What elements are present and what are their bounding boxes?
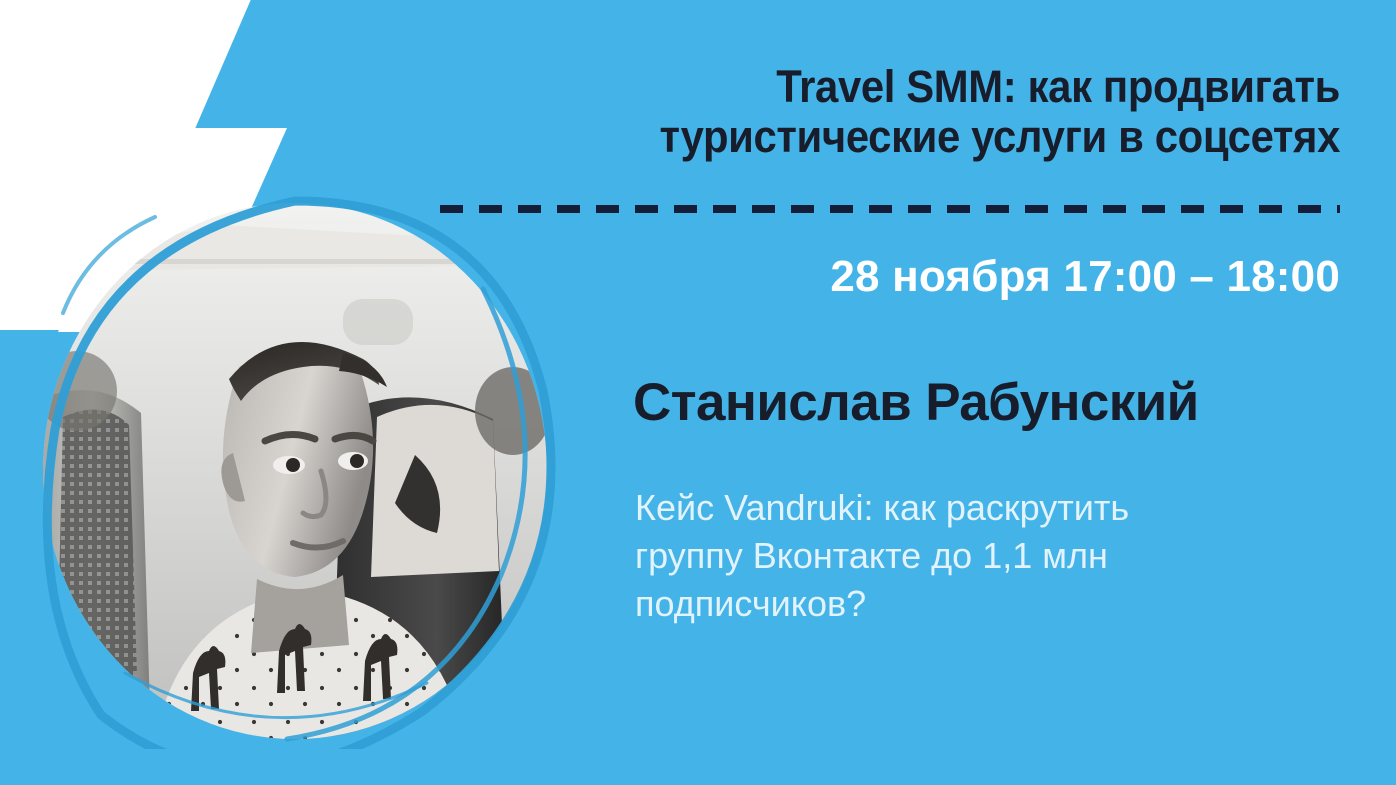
dashed-divider bbox=[440, 205, 1340, 213]
page-title: Travel SMM: как продвигать туристические… bbox=[494, 62, 1340, 163]
event-datetime: 28 ноября 17:00 – 18:00 bbox=[430, 252, 1340, 302]
webinar-announcement-banner: Travel SMM: как продвигать туристические… bbox=[0, 0, 1396, 785]
text-content-column: Travel SMM: как продвигать туристические… bbox=[430, 0, 1396, 785]
speaker-name: Станислав Рабунский bbox=[633, 372, 1199, 433]
speaker-topic-description: Кейс Vandruki: как раскрутить группу Вко… bbox=[635, 484, 1375, 628]
